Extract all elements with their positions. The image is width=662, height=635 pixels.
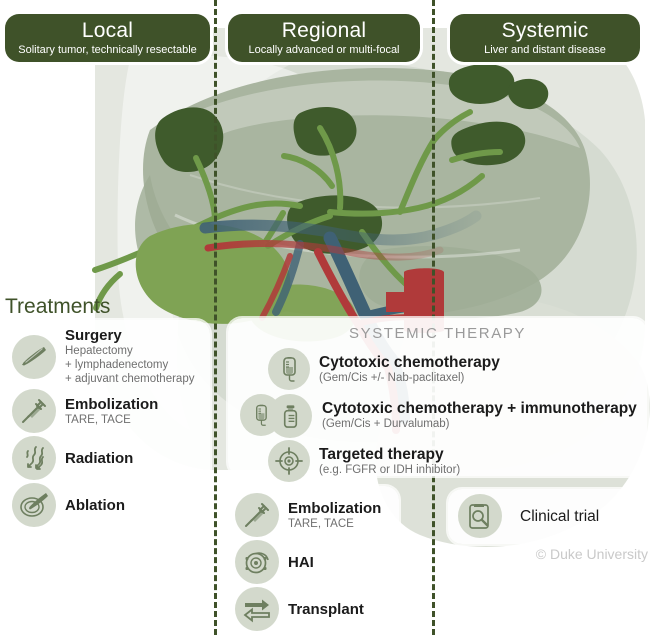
stage-chip-systemic[interactable]: Systemic Liver and distant disease xyxy=(450,14,640,62)
iv-bag-icon xyxy=(268,348,310,390)
ablation-probe-icon xyxy=(12,483,56,527)
copyright-credit: © Duke University xyxy=(452,546,648,562)
regional-text: Transplant xyxy=(288,601,364,618)
clinical-trial-label: Clinical trial xyxy=(520,508,599,525)
systemic-label: Targeted therapy xyxy=(319,446,460,463)
treatment-text: Embolization TARE, TACE xyxy=(65,396,158,427)
regional-label: Transplant xyxy=(288,601,364,618)
syringe-icon xyxy=(12,389,56,433)
medicine-vial-icon xyxy=(268,394,312,438)
regional-row-embolization[interactable]: Embolization TARE, TACE xyxy=(235,493,405,537)
treatment-text: Radiation xyxy=(65,450,133,467)
treatment-text: Surgery Hepatectomy + lymphadenectomy + … xyxy=(65,327,194,386)
exchange-arrows-icon xyxy=(235,587,279,631)
systemic-sub: (e.g. FGFR or IDH inhibitor) xyxy=(319,463,460,477)
treatments-panel: Surgery Hepatectomy + lymphadenectomy + … xyxy=(5,320,210,522)
systemic-row-targeted[interactable]: Targeted therapy (e.g. FGFR or IDH inhib… xyxy=(268,440,662,482)
iv-bag-and-vial-icon xyxy=(240,394,312,436)
scalpel-icon xyxy=(12,335,56,379)
systemic-therapy-panel: SYSTEMIC THERAPY Cytotoxic chemotherapy … xyxy=(228,318,647,476)
treatment-label: Radiation xyxy=(65,450,133,467)
chip-subtitle: Locally advanced or multi-focal xyxy=(248,43,399,57)
target-crosshair-icon xyxy=(268,440,310,482)
clinical-trial-panel[interactable]: Clinical trial xyxy=(448,489,646,544)
stage-chip-local[interactable]: Local Solitary tumor, technically resect… xyxy=(5,14,210,62)
systemic-row-chemo[interactable]: Cytotoxic chemotherapy (Gem/Cis +/- Nab-… xyxy=(268,348,662,390)
regional-treatments-panel: Embolization TARE, TACE xyxy=(229,486,399,635)
regional-label: HAI xyxy=(288,554,314,571)
stage-chip-regional[interactable]: Regional Locally advanced or multi-focal xyxy=(228,14,420,62)
treatment-row-ablation[interactable]: Ablation xyxy=(5,483,210,527)
chip-title: Systemic xyxy=(502,19,589,42)
systemic-text: Cytotoxic chemotherapy + immunotherapy (… xyxy=(322,400,637,431)
treatment-label: Embolization xyxy=(65,396,158,413)
regional-row-transplant[interactable]: Transplant xyxy=(235,587,405,631)
systemic-label: Cytotoxic chemotherapy xyxy=(319,354,500,371)
chip-title: Regional xyxy=(282,19,367,42)
chip-title: Local xyxy=(82,19,133,42)
infographic-canvas: Local Solitary tumor, technically resect… xyxy=(0,0,662,635)
chip-subtitle: Liver and distant disease xyxy=(484,43,606,57)
treatment-label: Surgery xyxy=(65,327,194,344)
regional-sub: TARE, TACE xyxy=(288,517,381,531)
systemic-sub: (Gem/Cis +/- Nab-paclitaxel) xyxy=(319,371,500,385)
chip-subtitle: Solitary tumor, technically resectable xyxy=(18,43,197,57)
systemic-sub: (Gem/Cis + Durvalumab) xyxy=(322,417,637,431)
radiation-waves-icon xyxy=(12,436,56,480)
treatment-text: Ablation xyxy=(65,497,125,514)
systemic-text: Cytotoxic chemotherapy (Gem/Cis +/- Nab-… xyxy=(319,354,500,385)
regional-label: Embolization xyxy=(288,500,381,517)
hai-pump-icon xyxy=(235,540,279,584)
treatment-label: Ablation xyxy=(65,497,125,514)
treatment-row-embolization[interactable]: Embolization TARE, TACE xyxy=(5,389,210,433)
systemic-row-chemo-immuno[interactable]: Cytotoxic chemotherapy + immunotherapy (… xyxy=(240,394,662,436)
clinical-trial-row[interactable]: Clinical trial xyxy=(458,494,599,538)
treatment-sub: TARE, TACE xyxy=(65,413,158,427)
regional-row-hai[interactable]: HAI xyxy=(235,540,405,584)
treatment-row-surgery[interactable]: Surgery Hepatectomy + lymphadenectomy + … xyxy=(5,327,210,386)
clipboard-search-icon xyxy=(458,494,502,538)
regional-text: HAI xyxy=(288,554,314,571)
systemic-text: Targeted therapy (e.g. FGFR or IDH inhib… xyxy=(319,446,460,477)
treatment-row-radiation[interactable]: Radiation xyxy=(5,436,210,480)
divider-local-regional xyxy=(214,0,217,635)
syringe-icon xyxy=(235,493,279,537)
treatment-sub: Hepatectomy + lymphadenectomy + adjuvant… xyxy=(65,344,194,386)
systemic-label: Cytotoxic chemotherapy + immunotherapy xyxy=(322,400,637,417)
regional-text: Embolization TARE, TACE xyxy=(288,500,381,531)
treatments-heading: Treatments xyxy=(5,295,110,319)
